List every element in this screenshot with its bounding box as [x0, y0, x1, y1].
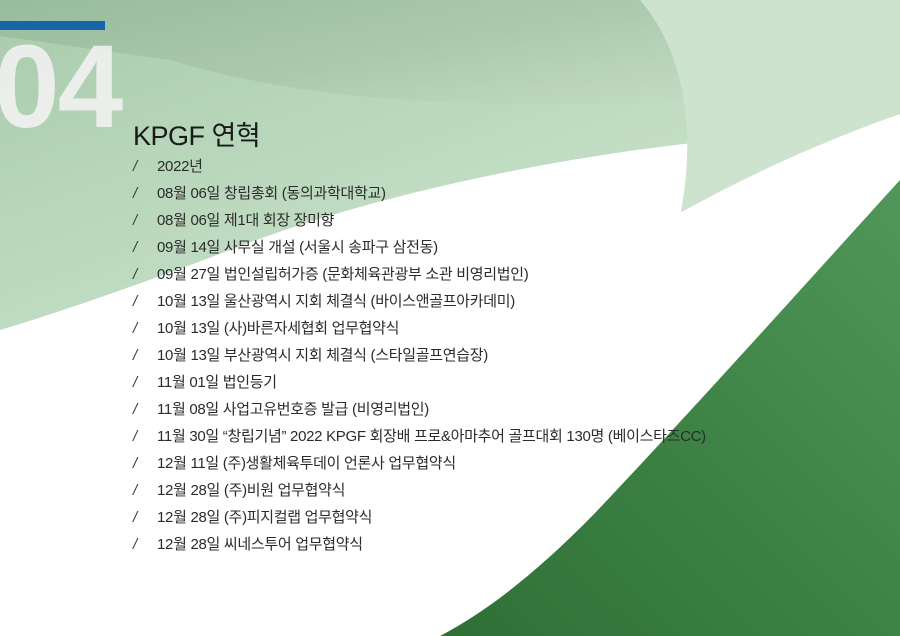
- history-list: / 2022년 / 08월 06일 창립총회 (동의과학대학교) / 08월 0…: [133, 155, 893, 560]
- history-entry-text: 11월 30일 “창립기념” 2022 KPGF 회장배 프로&아마추어 골프대…: [157, 425, 706, 446]
- slash-marker-icon: /: [133, 293, 157, 310]
- list-item: / 2022년: [133, 155, 893, 182]
- history-entry-text: 12월 11일 (주)생활체육투데이 언론사 업무협약식: [157, 452, 456, 473]
- list-item: / 11월 30일 “창립기념” 2022 KPGF 회장배 프로&아마추어 골…: [133, 425, 893, 452]
- list-item: / 09월 14일 사무실 개설 (서울시 송파구 삼전동): [133, 236, 893, 263]
- slash-marker-icon: /: [133, 212, 157, 229]
- list-item: / 12월 11일 (주)생활체육투데이 언론사 업무협약식: [133, 452, 893, 479]
- slash-marker-icon: /: [133, 320, 157, 337]
- history-entry-text: 12월 28일 (주)피지컬랩 업무협약식: [157, 506, 372, 527]
- history-entry-text: 09월 14일 사무실 개설 (서울시 송파구 삼전동): [157, 236, 438, 257]
- history-entry-text: 12월 28일 (주)비원 업무협약식: [157, 479, 345, 500]
- history-entry-text: 10월 13일 부산광역시 지회 체결식 (스타일골프연습장): [157, 344, 488, 365]
- page-title: KPGF 연혁: [133, 122, 260, 152]
- slash-marker-icon: /: [133, 401, 157, 418]
- slash-marker-icon: /: [133, 185, 157, 202]
- slash-marker-icon: /: [133, 158, 157, 175]
- history-entry-text: 09월 27일 법인설립허가증 (문화체육관광부 소관 비영리법인): [157, 263, 528, 284]
- section-number: 04: [0, 28, 121, 146]
- history-entry-text: 10월 13일 울산광역시 지회 체결식 (바이스앤골프아카데미): [157, 290, 515, 311]
- slash-marker-icon: /: [133, 455, 157, 472]
- slash-marker-icon: /: [133, 374, 157, 391]
- slash-marker-icon: /: [133, 482, 157, 499]
- list-item: / 08월 06일 제1대 회장 장미향: [133, 209, 893, 236]
- slash-marker-icon: /: [133, 239, 157, 256]
- slide-canvas: 04 KPGF 연혁 / 2022년 / 08월 06일 창립총회 (동의과학대…: [0, 0, 900, 636]
- history-entry-text: 10월 13일 (사)바른자세협회 업무협약식: [157, 317, 399, 338]
- slash-marker-icon: /: [133, 509, 157, 526]
- list-item: / 10월 13일 울산광역시 지회 체결식 (바이스앤골프아카데미): [133, 290, 893, 317]
- slash-marker-icon: /: [133, 266, 157, 283]
- history-entry-text: 12월 28일 씨네스투어 업무협약식: [157, 533, 363, 554]
- list-item: / 10월 13일 부산광역시 지회 체결식 (스타일골프연습장): [133, 344, 893, 371]
- list-item: / 10월 13일 (사)바른자세협회 업무협약식: [133, 317, 893, 344]
- list-item: / 12월 28일 (주)피지컬랩 업무협약식: [133, 506, 893, 533]
- list-item: / 09월 27일 법인설립허가증 (문화체육관광부 소관 비영리법인): [133, 263, 893, 290]
- history-entry-text: 08월 06일 창립총회 (동의과학대학교): [157, 182, 386, 203]
- slash-marker-icon: /: [133, 347, 157, 364]
- history-entry-text: 11월 08일 사업고유번호증 발급 (비영리법인): [157, 398, 429, 419]
- list-item: / 12월 28일 (주)비원 업무협약식: [133, 479, 893, 506]
- list-item: / 08월 06일 창립총회 (동의과학대학교): [133, 182, 893, 209]
- list-item: / 11월 08일 사업고유번호증 발급 (비영리법인): [133, 398, 893, 425]
- slash-marker-icon: /: [133, 536, 157, 553]
- history-entry-text: 11월 01일 법인등기: [157, 371, 277, 392]
- slash-marker-icon: /: [133, 428, 157, 445]
- list-item: / 12월 28일 씨네스투어 업무협약식: [133, 533, 893, 560]
- list-item: / 11월 01일 법인등기: [133, 371, 893, 398]
- history-entry-text: 2022년: [157, 155, 203, 176]
- history-entry-text: 08월 06일 제1대 회장 장미향: [157, 209, 334, 230]
